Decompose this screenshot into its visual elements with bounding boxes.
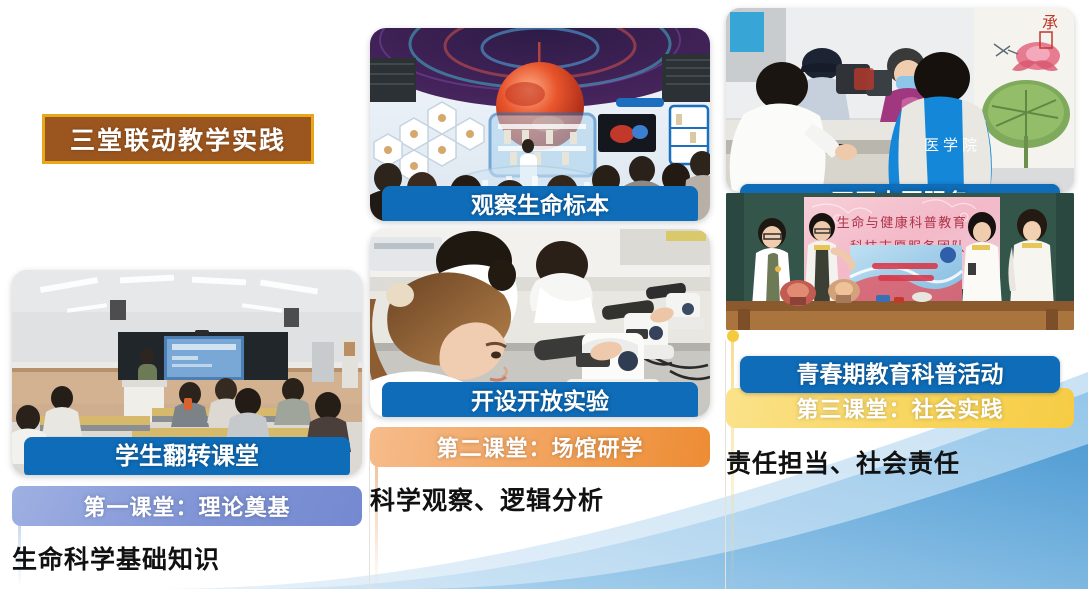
label-pill-third-classroom: 第三课堂：社会实践 [726, 388, 1074, 428]
slide-root: 三堂联动教学实践 [0, 0, 1088, 589]
volunteer-service-photo-illustration: 承 [726, 8, 1074, 192]
svg-text:承: 承 [1042, 14, 1058, 32]
photo-card-volunteer-service: 承 [726, 8, 1074, 192]
column-first-classroom: 学生翻转课堂 第一课堂：理论奠基 生命科学基础知识 [12, 270, 362, 576]
column-third-classroom: 承 [726, 8, 1074, 480]
label-pill-second-classroom: 第二课堂：场馆研学 [370, 427, 710, 467]
page-title: 三堂联动教学实践 [70, 121, 286, 157]
vest-text: 医学院 [924, 136, 981, 154]
outcome-text-second-classroom: 科学观察、逻辑分析 [370, 481, 710, 517]
photo-card-life-specimen: 观察生命标本 [370, 28, 710, 221]
outcome-text-first-classroom: 生命科学基础知识 [12, 540, 362, 576]
page-title-badge: 三堂联动教学实践 [42, 114, 314, 164]
photo-caption-life-specimen: 观察生命标本 [382, 186, 698, 221]
column-second-classroom: 观察生命标本 [370, 28, 710, 517]
photo-card-puberty-education: 生命与健康科普教育 科技志愿服务团队 [726, 193, 1074, 330]
science-popularization-photo-illustration: 生命与健康科普教育 科技志愿服务团队 [726, 193, 1074, 330]
photo-caption-open-lab: 开设开放实验 [382, 382, 698, 417]
screen-text-line-1: 生命与健康科普教育 [837, 215, 968, 230]
photo-caption-puberty-education: 青春期教育科普活动 [740, 356, 1060, 393]
photo-caption-flipped-classroom: 学生翻转课堂 [24, 437, 350, 475]
photo-card-open-lab: 开设开放实验 [370, 229, 710, 417]
label-pill-first-classroom: 第一课堂：理论奠基 [12, 486, 362, 526]
outcome-text-third-classroom: 责任担当、社会责任 [726, 444, 1074, 480]
photo-card-flipped-classroom: 学生翻转课堂 [12, 270, 362, 475]
